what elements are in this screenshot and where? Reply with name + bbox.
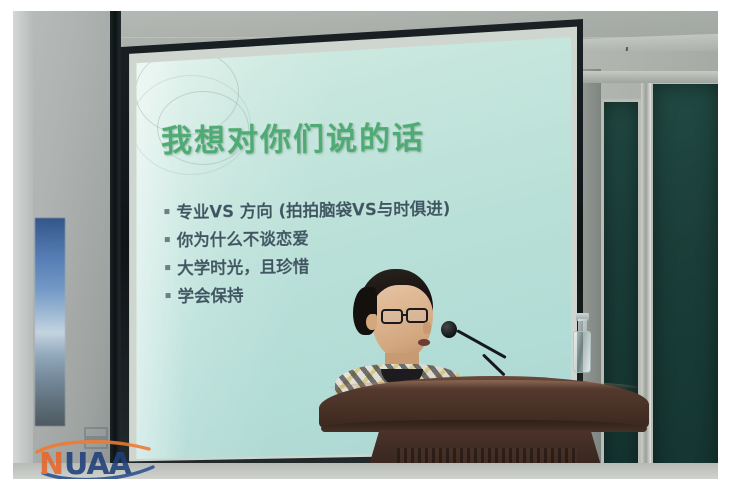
bullet-square-icon <box>166 293 171 298</box>
chalkboard-top-rail <box>573 71 718 83</box>
nuaa-letter-n: N <box>39 447 64 479</box>
slide-bullet-text: 你为什么不谈恋爱 <box>177 225 309 251</box>
slide-title: 我想对你们说的话 <box>161 112 462 161</box>
nuaa-watermark-logo: N UAA <box>35 426 157 479</box>
glasses-left-lens <box>381 309 403 324</box>
slide-bullet-text: 大学时光，且珍惜 <box>177 253 309 279</box>
glasses-bridge <box>402 314 408 316</box>
wall-poster-left <box>35 218 65 426</box>
glasses-right-lens <box>406 308 428 323</box>
bullet-square-icon <box>164 209 169 214</box>
slide-bullet-item: 专业VS 方向 (拍拍脑袋VS与时俱进) <box>164 195 464 223</box>
presenter-ear <box>366 314 377 330</box>
slide-bullet-text: 专业VS 方向 (拍拍脑袋VS与时俱进) <box>176 195 450 223</box>
podium-highlight <box>329 380 639 389</box>
nuaa-letters-uaa: UAA <box>64 447 133 479</box>
slide-bullet-text: 学会保持 <box>177 282 243 307</box>
nuaa-book-icon <box>85 428 107 448</box>
bullet-square-icon <box>165 265 170 270</box>
presenter-nose <box>423 322 431 334</box>
photograph: 我想对你们说的话 专业VS 方向 (拍拍脑袋VS与时俱进) 你为什么不谈恋爱 大… <box>13 11 718 479</box>
presenter-mouth <box>418 339 430 346</box>
left-wall-edge <box>13 11 33 479</box>
photo-frame: 我想对你们说的话 专业VS 方向 (拍拍脑袋VS与时俱进) 你为什么不谈恋爱 大… <box>0 0 730 495</box>
bullet-square-icon <box>165 237 170 242</box>
door-jamb <box>110 11 121 479</box>
microphone-head <box>441 321 457 338</box>
chalkboard-right-panel <box>650 81 718 479</box>
slide-bullet-item: 你为什么不谈恋爱 <box>165 223 465 251</box>
